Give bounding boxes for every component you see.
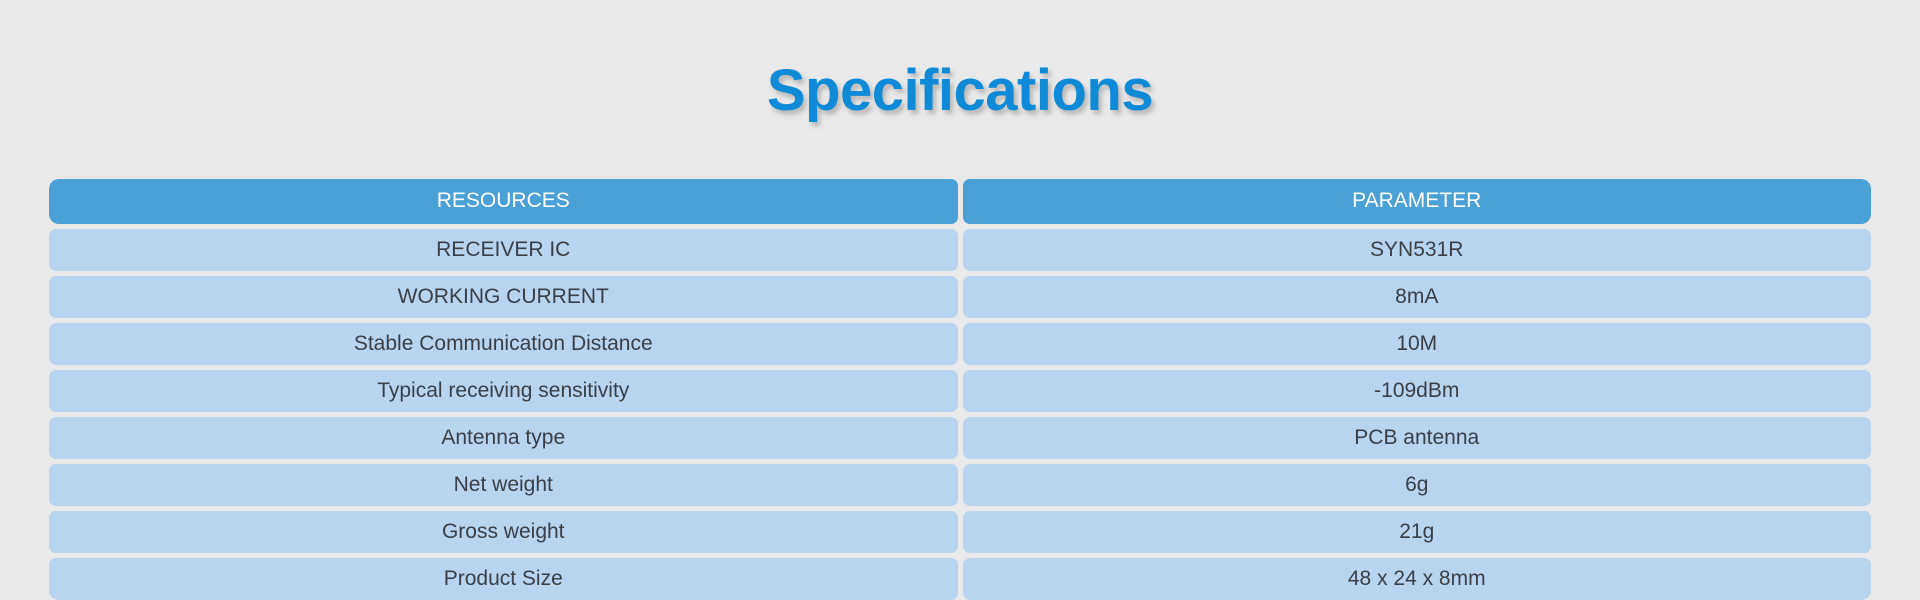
cell-parameter: SYN531R	[963, 229, 1872, 271]
table-row: Product Size 48 x 24 x 8mm	[49, 558, 1871, 600]
cell-parameter: 10M	[963, 323, 1872, 365]
cell-resource: Product Size	[49, 558, 958, 600]
cell-resource: Typical receiving sensitivity	[49, 370, 958, 412]
table-row: Typical receiving sensitivity -109dBm	[49, 370, 1871, 412]
table-row: WORKING CURRENT 8mA	[49, 276, 1871, 318]
cell-parameter: PCB antenna	[963, 417, 1872, 459]
cell-resource: Antenna type	[49, 417, 958, 459]
table-header-row: RESOURCES PARAMETER	[49, 179, 1871, 224]
cell-parameter: 6g	[963, 464, 1872, 506]
cell-resource: Stable Communication Distance	[49, 323, 958, 365]
column-header-parameter: PARAMETER	[963, 179, 1872, 224]
specifications-page: Specifications RESOURCES PARAMETER RECEI…	[0, 0, 1920, 600]
cell-resource: Gross weight	[49, 511, 958, 553]
cell-parameter: 21g	[963, 511, 1872, 553]
page-title: Specifications	[767, 61, 1153, 122]
cell-resource: Net weight	[49, 464, 958, 506]
cell-parameter: 48 x 24 x 8mm	[963, 558, 1872, 600]
table-row: Antenna type PCB antenna	[49, 417, 1871, 459]
cell-parameter: 8mA	[963, 276, 1872, 318]
cell-resource: WORKING CURRENT	[49, 276, 958, 318]
table-row: Net weight 6g	[49, 464, 1871, 506]
column-header-resources: RESOURCES	[49, 179, 958, 224]
table-row: Gross weight 21g	[49, 511, 1871, 553]
table-row: Stable Communication Distance 10M	[49, 323, 1871, 365]
page-title-container: Specifications	[0, 0, 1920, 161]
table-row: RECEIVER IC SYN531R	[49, 229, 1871, 271]
specifications-table: RESOURCES PARAMETER RECEIVER IC SYN531R …	[49, 179, 1871, 600]
cell-resource: RECEIVER IC	[49, 229, 958, 271]
cell-parameter: -109dBm	[963, 370, 1872, 412]
